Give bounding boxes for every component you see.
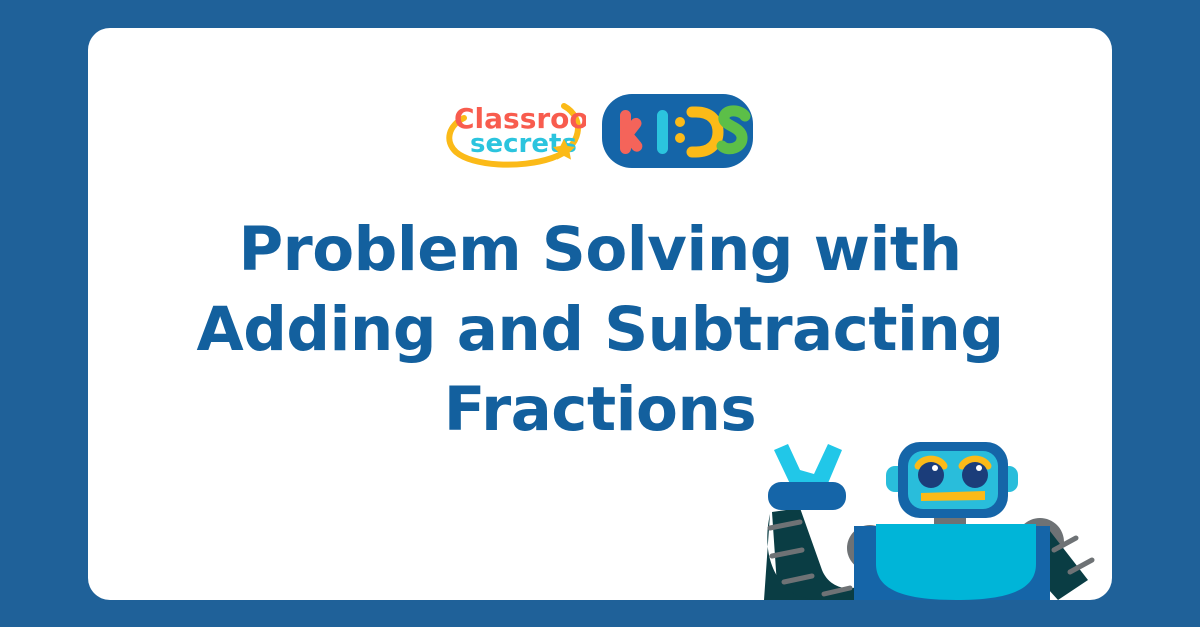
classroom-secrets-logo: Classroom secrets	[446, 92, 586, 170]
robot-chest-panel	[876, 524, 1036, 600]
kids-badge	[600, 90, 755, 172]
page-title: Problem Solving with Adding and Subtract…	[128, 210, 1072, 450]
robot-left-eye	[918, 462, 944, 488]
robot-body	[854, 524, 1050, 600]
title-line-2: Adding and Subtracting	[128, 290, 1072, 370]
title-line-1: Problem Solving with	[128, 210, 1072, 290]
content-card: Classroom secrets	[88, 28, 1112, 600]
robot-wrist-cuff	[768, 482, 846, 510]
robot-claw-hand	[768, 444, 846, 510]
robot-head	[898, 442, 1008, 518]
robot-mascot-illustration	[758, 430, 1112, 600]
brand-lockup: Classroom secrets	[88, 90, 1112, 172]
kids-letter-i	[657, 110, 668, 154]
robot-right-eye	[962, 462, 988, 488]
slide-frame: Classroom secrets	[0, 0, 1200, 627]
